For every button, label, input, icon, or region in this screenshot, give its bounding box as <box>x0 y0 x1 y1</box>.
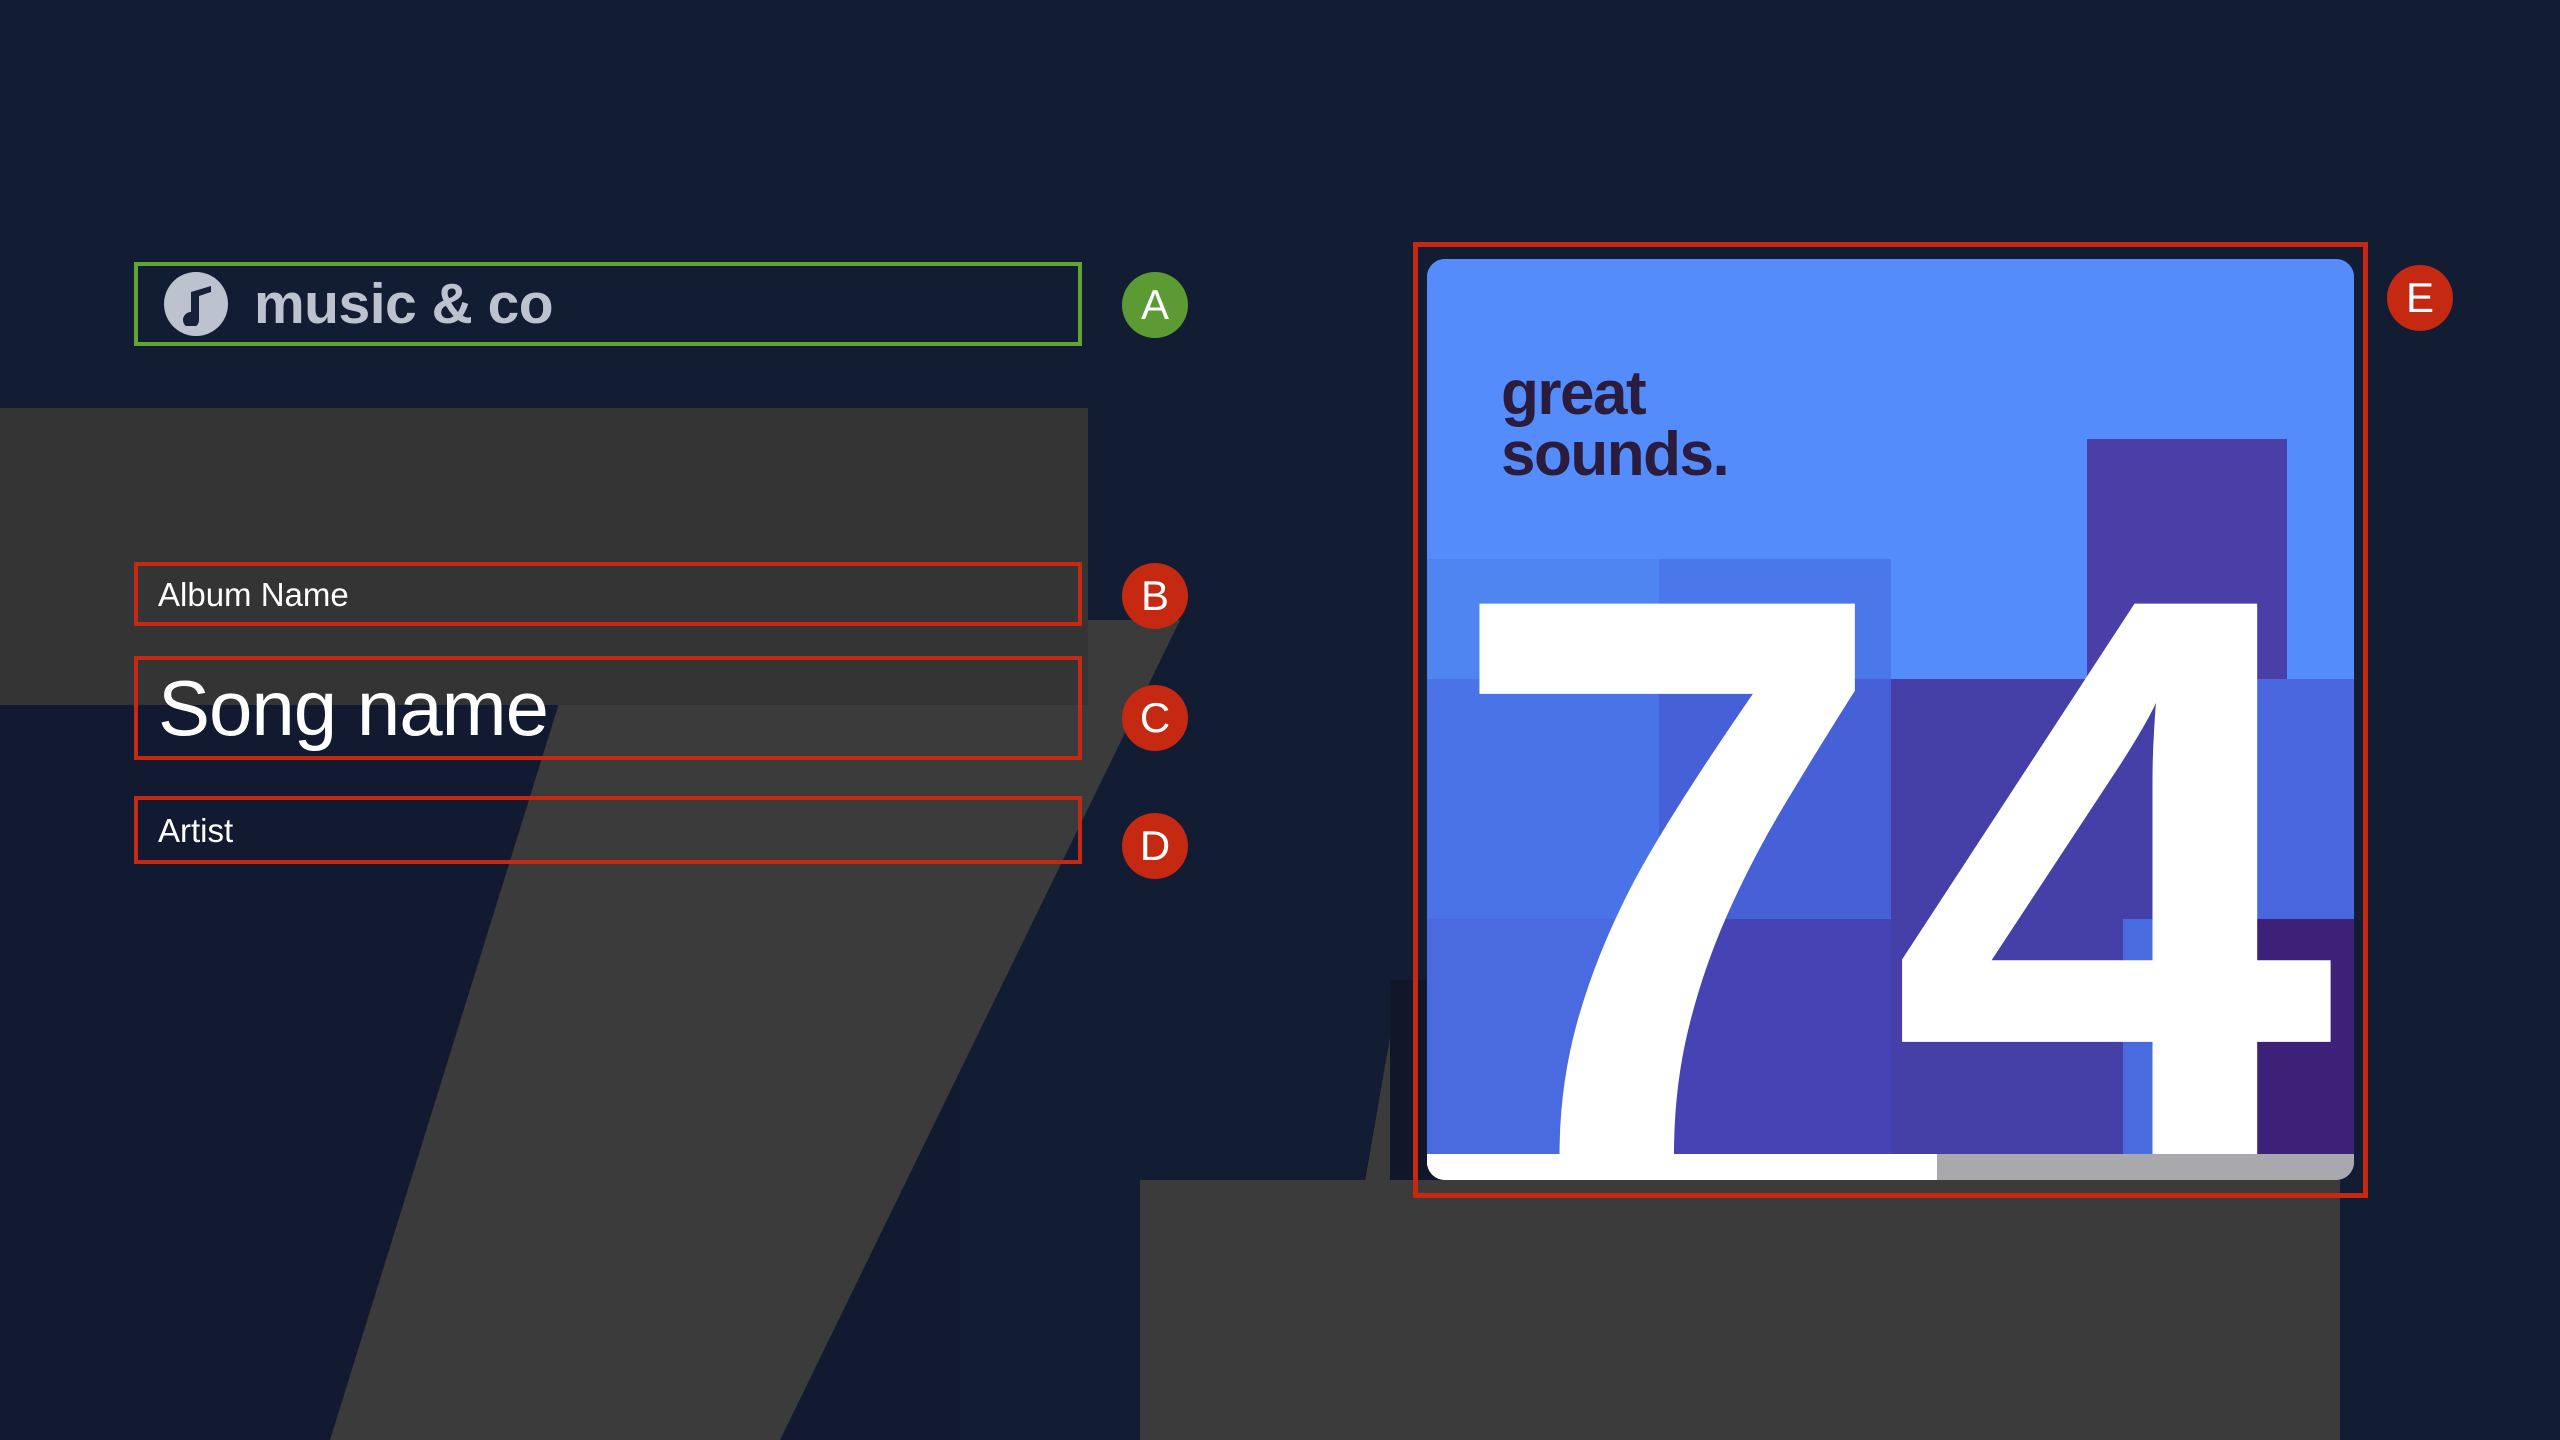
brand-logo[interactable]: music & co <box>134 262 1082 346</box>
annotation-badge-b: B <box>1122 563 1188 629</box>
playback-progress-track[interactable] <box>1427 1154 2354 1180</box>
artist-name-field[interactable]: Artist <box>134 796 1082 864</box>
annotation-badge-e: E <box>2387 265 2453 331</box>
playback-progress-fill <box>1427 1154 1937 1180</box>
music-note-icon <box>164 272 228 336</box>
annotation-badge-c: C <box>1122 685 1188 751</box>
album-name-label: Album Name <box>158 578 349 611</box>
song-name-label: Song name <box>158 669 548 747</box>
artist-name-label: Artist <box>158 814 233 847</box>
brand-title: music & co <box>254 276 553 333</box>
song-name-field[interactable]: Song name <box>134 656 1082 760</box>
album-name-field[interactable]: Album Name <box>134 562 1082 626</box>
album-artwork[interactable]: great sounds. 74 <box>1427 259 2354 1180</box>
annotation-badge-d: D <box>1122 813 1188 879</box>
album-art-color-grid <box>1427 259 2354 1180</box>
annotation-badge-a: A <box>1122 272 1188 338</box>
